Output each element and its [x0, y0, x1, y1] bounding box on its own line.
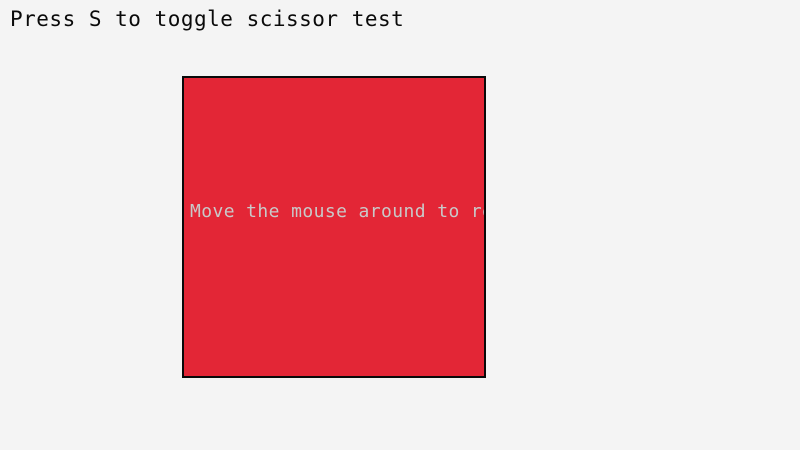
instruction-text: Press S to toggle scissor test [10, 6, 404, 32]
scissor-region[interactable]: Move the mouse around to resize the scis… [182, 76, 486, 378]
scissor-message-text: Move the mouse around to resize the scis… [190, 201, 484, 223]
demo-canvas: Press S to toggle scissor test Move the … [0, 0, 800, 450]
scissor-clip-surface: Move the mouse around to resize the scis… [184, 78, 484, 376]
